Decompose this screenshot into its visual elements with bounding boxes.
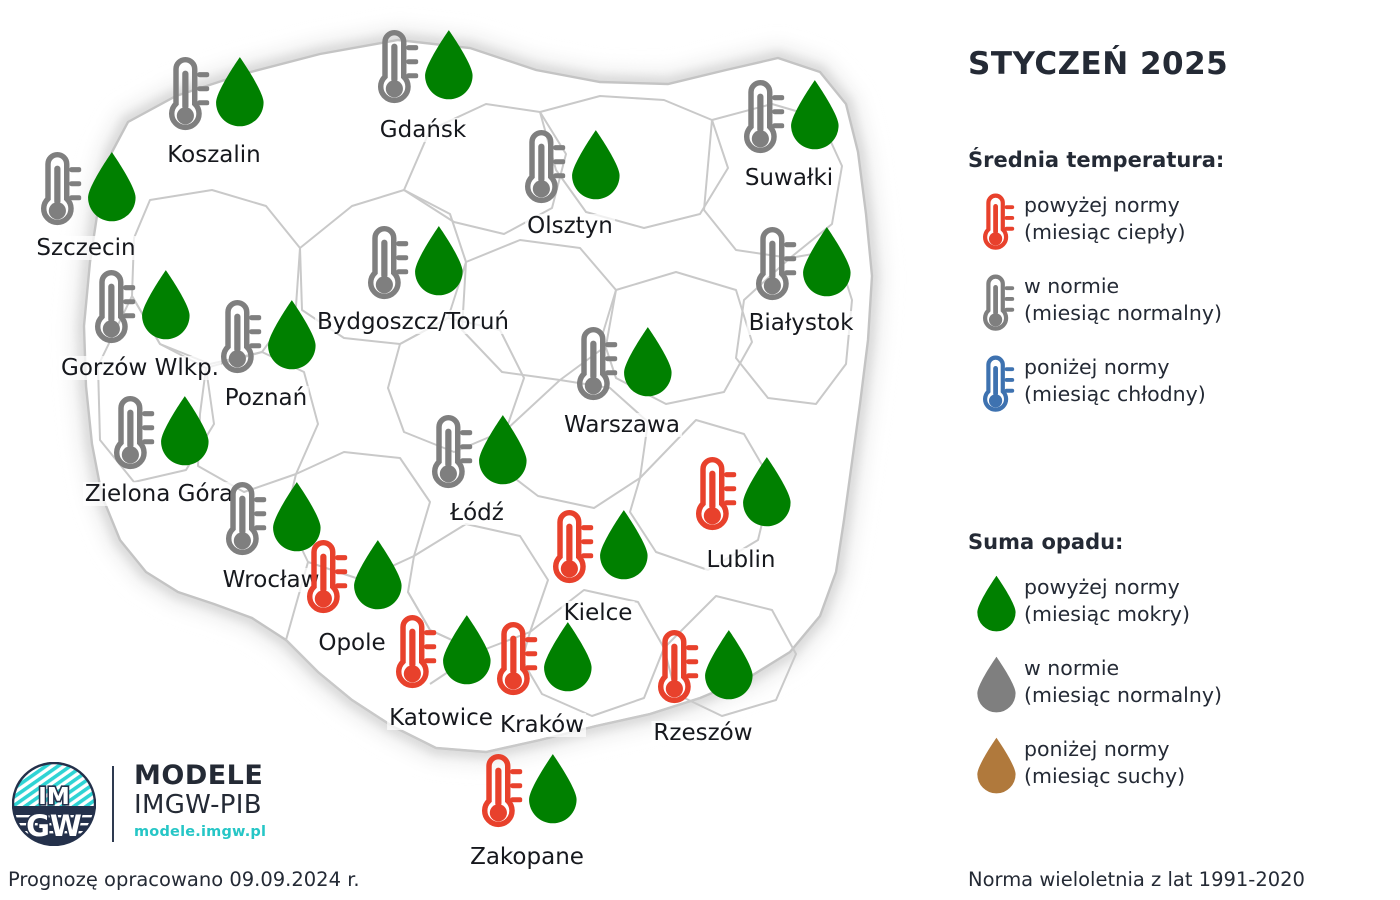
thermometer-icon	[299, 538, 347, 616]
droplet-icon	[214, 55, 267, 127]
marker-icons	[545, 508, 651, 586]
city-label: Warszawa	[562, 413, 682, 437]
thermometer-icon	[218, 480, 266, 558]
marker-icons	[569, 325, 675, 403]
thermometer-icon	[545, 508, 593, 586]
city-label: Zielona Góra	[83, 482, 235, 506]
city-label: Opole	[316, 631, 387, 655]
droplet-icon	[801, 225, 854, 297]
city-label: Poznań	[223, 386, 309, 410]
droplet-icon	[477, 413, 530, 485]
legend-line-2: (miesiąc normalny)	[1024, 682, 1222, 709]
page-title: STYCZEŃ 2025	[968, 46, 1228, 82]
marker-icons	[106, 394, 212, 472]
legend-line-2: (miesiąc ciepły)	[1024, 219, 1186, 246]
droplet-icon	[975, 736, 1018, 794]
droplet-icon	[542, 620, 595, 692]
legend-text: w normie (miesiąc normalny)	[1024, 653, 1222, 709]
thermometer-icon	[33, 150, 81, 228]
legend-text: w normie (miesiąc normalny)	[1024, 271, 1222, 327]
thermometer-icon	[87, 268, 135, 346]
legend-icon	[968, 653, 1024, 713]
legend-icon	[968, 572, 1024, 632]
legend-line-1: poniżej normy	[1024, 354, 1206, 381]
logo-url[interactable]: modele.imgw.pl	[134, 824, 266, 840]
city-label: Rzeszów	[651, 721, 754, 745]
legend-text: poniżej normy (miesiąc suchy)	[1024, 734, 1185, 790]
thermometer-icon	[977, 192, 1014, 252]
droplet-icon	[741, 455, 794, 527]
legend-line-1: w normie	[1024, 655, 1222, 682]
droplet-icon	[413, 224, 466, 296]
thermometer-icon	[489, 620, 537, 698]
legend-row: powyżej normy (miesiąc mokry)	[968, 572, 1398, 634]
marker-icons	[370, 28, 476, 106]
legend-icon	[968, 190, 1024, 252]
norm-period-note: Norma wieloletnia z lat 1991-2020	[968, 868, 1305, 891]
legend-row: powyżej normy (miesiąc ciepły)	[968, 190, 1398, 252]
city-label: Gorzów Wlkp.	[59, 356, 221, 380]
marker-icons	[736, 78, 842, 156]
city-label: Olsztyn	[525, 214, 615, 238]
logo-title: MODELE	[134, 760, 266, 791]
thermometer-icon	[688, 455, 736, 533]
thermometer-icon	[213, 298, 261, 376]
droplet-icon	[789, 78, 842, 150]
city-label: Łódź	[448, 501, 506, 525]
legend-row: poniżej normy (miesiąc suchy)	[968, 734, 1398, 796]
thermometer-icon	[370, 28, 418, 106]
temperature-legend: Średnia temperatura: powyżej normy (mies…	[968, 148, 1398, 433]
droplet-icon	[159, 394, 212, 466]
city-label: Lublin	[705, 548, 778, 572]
thermometer-icon	[569, 325, 617, 403]
thermometer-icon	[360, 224, 408, 302]
droplet-icon	[86, 150, 139, 222]
forecast-map-page: Szczecin Koszalin Gdańsk	[0, 0, 1400, 900]
legend-line-1: powyżej normy	[1024, 574, 1190, 601]
legend-line-2: (miesiąc normalny)	[1024, 300, 1222, 327]
droplet-icon	[703, 628, 756, 700]
thermometer-icon	[424, 413, 472, 491]
marker-icons	[517, 128, 623, 206]
marker-icons	[474, 752, 580, 830]
legend-text: poniżej normy (miesiąc chłodny)	[1024, 352, 1206, 408]
legend-line-1: w normie	[1024, 273, 1222, 300]
thermometer-icon	[474, 752, 522, 830]
droplet-icon	[140, 268, 193, 340]
temperature-legend-rows: powyżej normy (miesiąc ciepły) w normie …	[968, 190, 1398, 414]
thermometer-icon	[161, 55, 209, 133]
logo-text-block: MODELE IMGW-PIB modele.imgw.pl	[134, 760, 266, 840]
logo-mark-text-bottom: GW	[26, 809, 82, 843]
droplet-icon	[622, 325, 675, 397]
marker-icons	[213, 298, 319, 376]
city-label: Gdańsk	[378, 118, 468, 142]
imgw-logo-mark: IM GW	[12, 762, 96, 846]
city-label: Katowice	[387, 706, 495, 730]
thermometer-icon	[977, 354, 1014, 414]
droplet-icon	[441, 613, 494, 685]
imgw-logo[interactable]: IM GW MODELE IMGW-PIB modele.imgw.pl	[12, 758, 277, 850]
thermometer-icon	[106, 394, 154, 472]
legend-line-1: poniżej normy	[1024, 736, 1185, 763]
precipitation-legend-heading: Suma opadu:	[968, 530, 1398, 554]
legend-text: powyżej normy (miesiąc mokry)	[1024, 572, 1190, 628]
thermometer-icon	[977, 273, 1014, 333]
marker-icons	[360, 224, 466, 302]
droplet-icon	[975, 655, 1018, 713]
city-label: Suwałki	[743, 166, 835, 190]
legend-panel: STYCZEŃ 2025 Średnia temperatura: powyże…	[955, 0, 1400, 900]
marker-icons	[161, 55, 267, 133]
precipitation-legend-rows: powyżej normy (miesiąc mokry) w normie (…	[968, 572, 1398, 796]
logo-subtitle: IMGW-PIB	[134, 791, 266, 821]
forecast-date-note: Prognozę opracowano 09.09.2024 r.	[8, 868, 360, 891]
droplet-icon	[266, 298, 319, 370]
city-label: Bydgoszcz/Toruń	[315, 310, 511, 334]
legend-icon	[968, 734, 1024, 794]
marker-icons	[33, 150, 139, 228]
thermometer-icon	[650, 628, 698, 706]
legend-line-1: powyżej normy	[1024, 192, 1186, 219]
city-label: Szczecin	[34, 236, 137, 260]
legend-row: w normie (miesiąc normalny)	[968, 653, 1398, 715]
city-label: Kraków	[498, 713, 586, 737]
legend-line-2: (miesiąc mokry)	[1024, 601, 1190, 628]
marker-icons	[87, 268, 193, 346]
droplet-icon	[975, 574, 1018, 632]
droplet-icon	[527, 752, 580, 824]
marker-icons	[388, 613, 494, 691]
legend-row: w normie (miesiąc normalny)	[968, 271, 1398, 333]
legend-row: poniżej normy (miesiąc chłodny)	[968, 352, 1398, 414]
city-label: Białystok	[747, 311, 856, 335]
thermometer-icon	[736, 78, 784, 156]
city-label: Koszalin	[165, 143, 263, 167]
marker-icons	[424, 413, 530, 491]
droplet-icon	[423, 28, 476, 100]
logo-divider	[112, 766, 114, 842]
thermometer-icon	[517, 128, 565, 206]
logo-mark-text-top: IM	[38, 784, 69, 810]
marker-icons	[748, 225, 854, 303]
droplet-icon	[570, 128, 623, 200]
marker-icons	[489, 620, 595, 698]
legend-line-2: (miesiąc chłodny)	[1024, 381, 1206, 408]
legend-icon	[968, 271, 1024, 333]
thermometer-icon	[748, 225, 796, 303]
marker-icons	[650, 628, 756, 706]
thermometer-icon	[388, 613, 436, 691]
temperature-legend-heading: Średnia temperatura:	[968, 148, 1398, 172]
legend-line-2: (miesiąc suchy)	[1024, 763, 1185, 790]
marker-icons	[299, 538, 405, 616]
legend-text: powyżej normy (miesiąc ciepły)	[1024, 190, 1186, 246]
precipitation-legend: Suma opadu: powyżej normy (miesiąc mokry…	[968, 530, 1398, 815]
droplet-icon	[352, 538, 405, 610]
city-label: Zakopane	[468, 845, 586, 869]
legend-icon	[968, 352, 1024, 414]
marker-icons	[688, 455, 794, 533]
droplet-icon	[598, 508, 651, 580]
